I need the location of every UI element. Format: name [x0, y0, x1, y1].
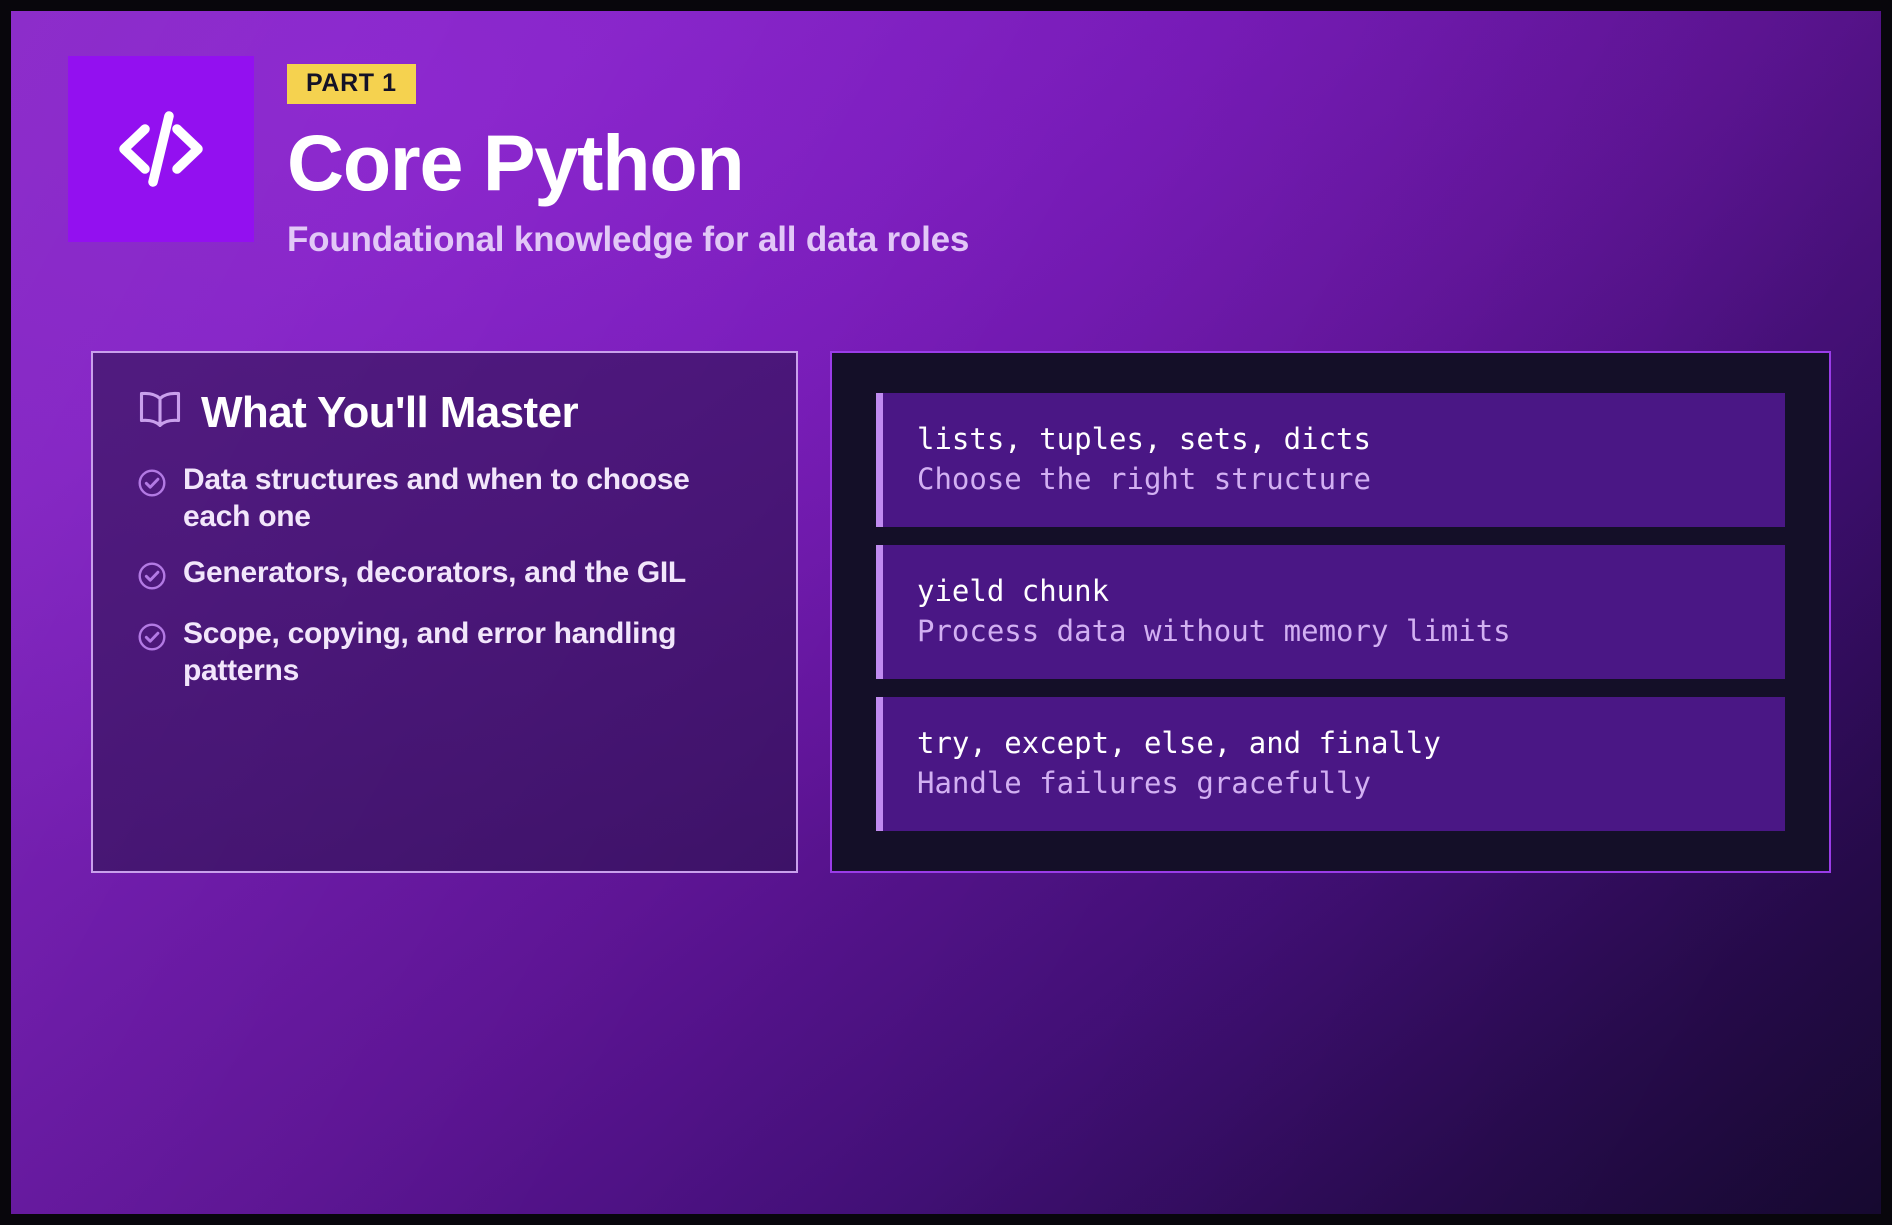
- code-block: yield chunk Process data without memory …: [876, 545, 1785, 679]
- code-snippet: yield chunk: [917, 571, 1755, 611]
- code-examples-panel: lists, tuples, sets, dicts Choose the ri…: [830, 351, 1831, 873]
- part-badge: PART 1: [287, 64, 416, 104]
- list-item-label: Generators, decorators, and the GIL: [183, 555, 686, 592]
- panels-row: What You'll Master Data structures and w…: [91, 351, 1831, 873]
- list-item: Data structures and when to choose each …: [137, 462, 756, 535]
- page-title: Core Python: [287, 123, 969, 204]
- open-book-icon: [137, 389, 183, 436]
- list-item-label: Scope, copying, and error handling patte…: [183, 616, 756, 689]
- check-circle-icon: [137, 468, 167, 503]
- header-text-group: PART 1 Core Python Foundational knowledg…: [287, 56, 969, 260]
- left-panel-title: What You'll Master: [201, 391, 578, 435]
- code-block: lists, tuples, sets, dicts Choose the ri…: [876, 393, 1785, 527]
- code-brackets-icon: [109, 97, 213, 201]
- logo-tile: [68, 56, 254, 242]
- slide-header: PART 1 Core Python Foundational knowledg…: [68, 56, 969, 260]
- page-subtitle: Foundational knowledge for all data role…: [287, 220, 969, 260]
- slide-canvas: PART 1 Core Python Foundational knowledg…: [0, 0, 1892, 1225]
- list-item: Generators, decorators, and the GIL: [137, 555, 756, 596]
- what-youll-master-panel: What You'll Master Data structures and w…: [91, 351, 798, 873]
- code-caption: Handle failures gracefully: [917, 763, 1755, 803]
- code-snippet: try, except, else, and finally: [917, 723, 1755, 763]
- check-circle-icon: [137, 622, 167, 657]
- list-item: Scope, copying, and error handling patte…: [137, 616, 756, 689]
- code-caption: Choose the right structure: [917, 459, 1755, 499]
- code-block: try, except, else, and finally Handle fa…: [876, 697, 1785, 831]
- code-snippet: lists, tuples, sets, dicts: [917, 419, 1755, 459]
- list-item-label: Data structures and when to choose each …: [183, 462, 756, 535]
- check-circle-icon: [137, 561, 167, 596]
- code-caption: Process data without memory limits: [917, 611, 1755, 651]
- left-panel-header: What You'll Master: [137, 389, 756, 436]
